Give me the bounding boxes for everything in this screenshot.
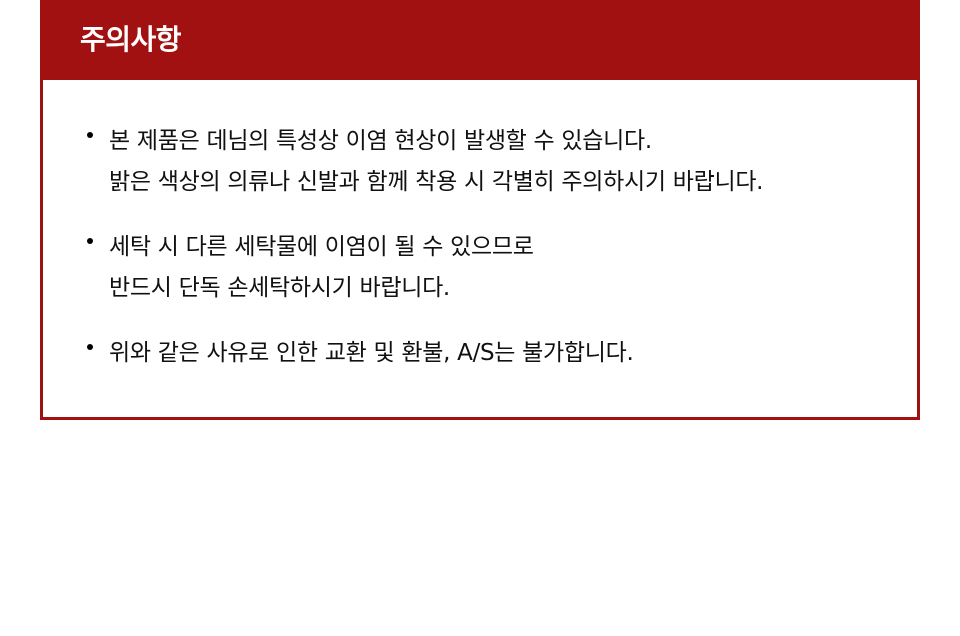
bullet-dot-icon xyxy=(87,132,93,138)
list-item-line: 밝은 색상의 의류나 신발과 함께 착용 시 각별히 주의하시기 바랍니다. xyxy=(109,162,887,203)
list-item-line: 세탁 시 다른 세탁물에 이염이 될 수 있으므로 xyxy=(109,227,887,268)
list-item: 본 제품은 데님의 특성상 이염 현상이 발생할 수 있습니다. 밝은 색상의 … xyxy=(85,121,887,203)
bullet-dot-icon xyxy=(87,238,93,244)
list-item: 세탁 시 다른 세탁물에 이염이 될 수 있으므로 반드시 단독 손세탁하시기 … xyxy=(85,227,887,309)
list-item: 위와 같은 사유로 인한 교환 및 환불, A/S는 불가합니다. xyxy=(85,333,887,374)
notice-bullet-list: 본 제품은 데님의 특성상 이염 현상이 발생할 수 있습니다. 밝은 색상의 … xyxy=(85,121,887,374)
notice-card: 주의사항 본 제품은 데님의 특성상 이염 현상이 발생할 수 있습니다. 밝은… xyxy=(40,0,920,420)
notice-header-bar: 주의사항 xyxy=(40,0,920,80)
page-title: 주의사항 xyxy=(80,26,181,54)
list-item-line: 반드시 단독 손세탁하시기 바랍니다. xyxy=(109,268,887,309)
list-item-line: 본 제품은 데님의 특성상 이염 현상이 발생할 수 있습니다. xyxy=(109,121,887,162)
list-item-line: 위와 같은 사유로 인한 교환 및 환불, A/S는 불가합니다. xyxy=(109,333,887,374)
notice-body: 본 제품은 데님의 특성상 이염 현상이 발생할 수 있습니다. 밝은 색상의 … xyxy=(40,80,920,420)
bullet-dot-icon xyxy=(87,344,93,350)
